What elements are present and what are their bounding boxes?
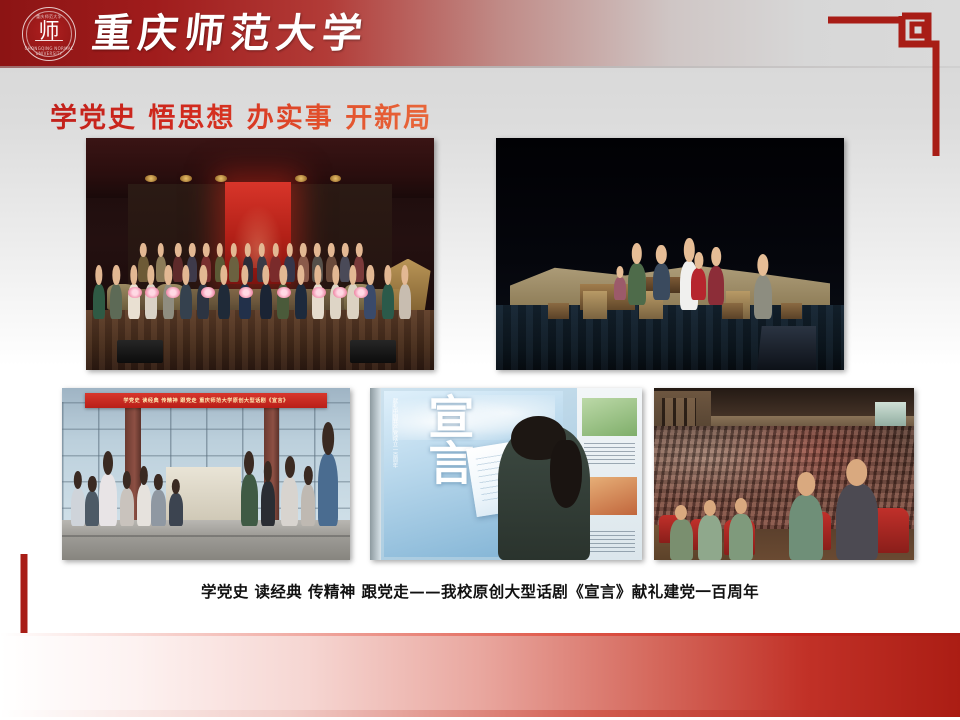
page-title: 学党史 悟思想 办实事 开新局 bbox=[50, 96, 432, 135]
presentation-slide: 重庆师范大学 师 CHONGQING NORMAL UNIVERSITY 重庆师… bbox=[0, 0, 960, 720]
footer-gradient-band bbox=[0, 636, 960, 720]
entrance-banner-text: 学党史 读经典 传精神 跟党走 重庆师范大学原创大型话剧《宣言》 bbox=[123, 397, 288, 404]
poster-subtitle: 献礼中国共产党成立一百周年 bbox=[390, 398, 397, 525]
entrance-banner: 学党史 读经典 传精神 跟党走 重庆师范大学原创大型话剧《宣言》 bbox=[85, 393, 327, 408]
emblem-character: 师 bbox=[23, 21, 75, 42]
photo-poster-viewing: 献礼中国共产党成立一百周年 宣言 bbox=[370, 388, 642, 560]
university-wordmark: 重庆师范大学 bbox=[89, 6, 371, 62]
header-underline bbox=[0, 66, 960, 68]
poster-title: 宣言 bbox=[403, 393, 474, 548]
slide-caption: 学党史 读经典 传精神 跟党走——我校原创大型话剧《宣言》献礼建党一百周年 bbox=[0, 580, 960, 602]
photo-audience bbox=[654, 388, 914, 560]
university-emblem-icon: 重庆师范大学 师 CHONGQING NORMAL UNIVERSITY bbox=[22, 7, 76, 61]
photo-stage-scene bbox=[496, 138, 844, 370]
photo-theater-entrance: 学党史 读经典 传精神 跟党走 重庆师范大学原创大型话剧《宣言》 bbox=[62, 388, 350, 560]
photo-curtain-call bbox=[86, 138, 434, 370]
emblem-arc-bottom-text: CHONGQING NORMAL UNIVERSITY bbox=[23, 46, 75, 56]
